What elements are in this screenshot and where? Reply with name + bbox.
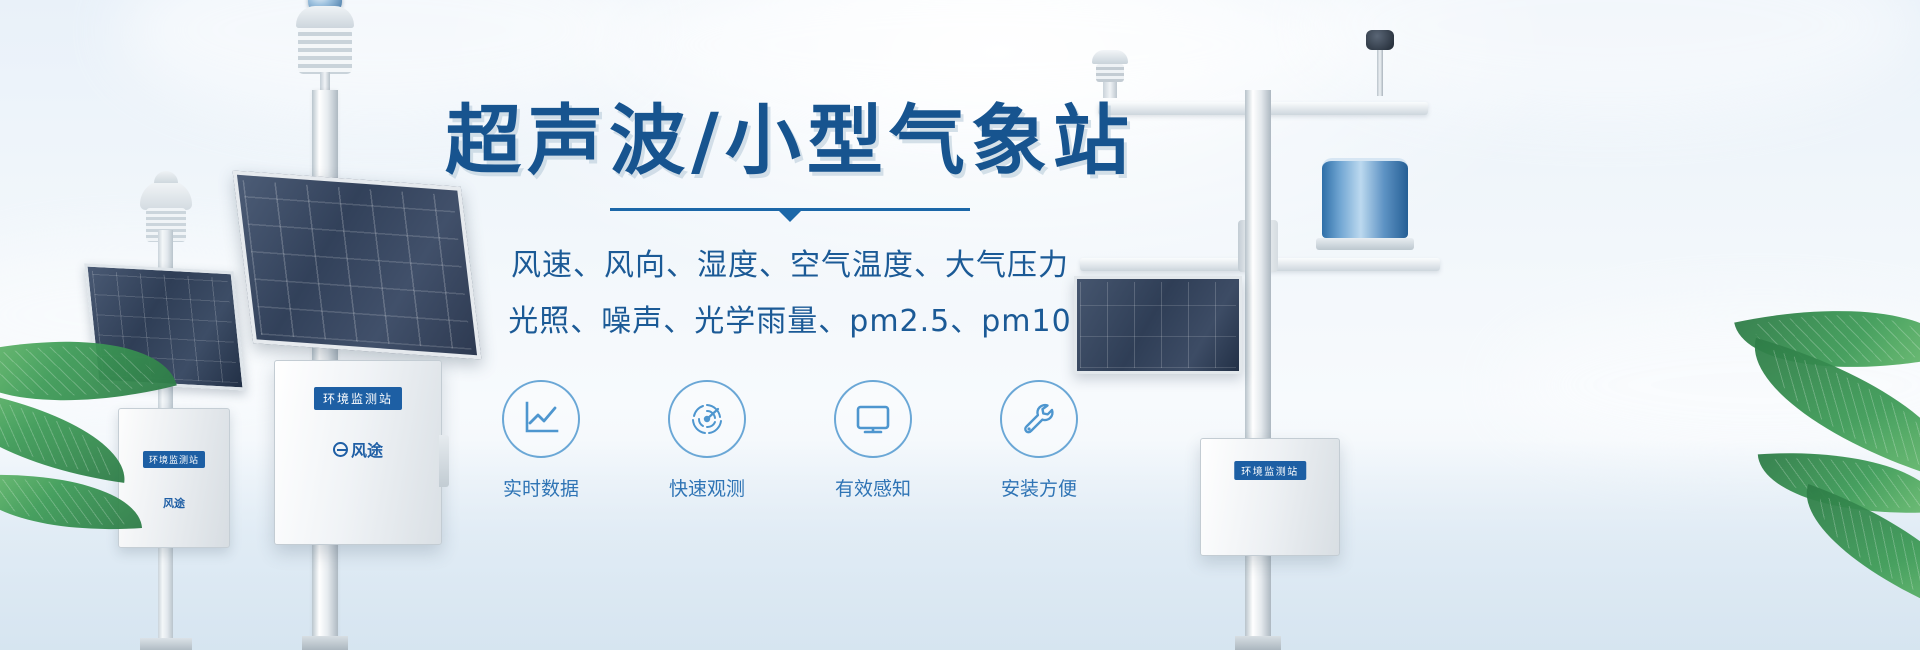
brand-mark-icon [333,442,348,457]
monitor-display-icon [851,397,895,441]
feature-icon-circle [502,380,580,458]
feature-item-fast-observation[interactable]: 快速观测 [652,380,762,501]
control-cabinet: 环境监测站 [1200,438,1340,556]
wind-sensor-icon [1360,30,1400,96]
feature-label: 快速观测 [652,474,762,501]
radiation-shield-icon [298,28,352,74]
pole-base [1235,636,1281,650]
cabinet-label: 环境监测站 [314,387,402,410]
pole-base [140,638,192,650]
line-chart-icon [519,397,563,441]
cabinet-label: 环境监测站 [143,451,205,468]
feature-list: 实时数据 [430,380,1150,501]
product-banner: 环境监测站 风途 环境监测站 风途 [0,0,1920,650]
feature-item-realtime-data[interactable]: 实时数据 [486,380,596,501]
cabinet-brand-logo: 风途 [333,437,383,461]
brand-text: 风途 [351,437,383,461]
feature-item-effective-sensing[interactable]: 有效感知 [818,380,928,501]
divider-triangle-icon [779,211,801,222]
feature-item-easy-install[interactable]: 安装方便 [984,380,1094,501]
sensor-cap [296,6,354,28]
station-pole [1245,90,1271,650]
cabinet-brand-logo: 风途 [163,495,185,511]
ultrasonic-sensor-icon [1088,50,1132,94]
control-cabinet: 环境监测站 风途 [274,360,442,545]
feature-label: 有效感知 [818,474,928,501]
banner-title: 超声波/小型气象站 [430,100,1150,182]
banner-content: 超声波/小型气象站 风速、风向、湿度、空气温度、大气压力 光照、噪声、光学雨量、… [430,100,1150,501]
cabinet-label: 环境监测站 [1234,461,1306,480]
title-divider [610,208,970,220]
feature-icon-circle [668,380,746,458]
subtitle-line-1: 风速、风向、湿度、空气温度、大气压力 [430,240,1150,284]
rain-gauge-icon [1322,158,1408,260]
feature-icon-circle [1000,380,1078,458]
radar-signal-icon [685,397,729,441]
feature-label: 实时数据 [486,474,596,501]
pole-base [302,636,348,650]
feature-label: 安装方便 [984,474,1094,501]
subtitle-line-2: 光照、噪声、光学雨量、pm2.5、pm10 [430,296,1150,340]
radiation-shield-icon [140,180,192,210]
feature-icon-circle [834,380,912,458]
wrench-tool-icon [1017,397,1061,441]
